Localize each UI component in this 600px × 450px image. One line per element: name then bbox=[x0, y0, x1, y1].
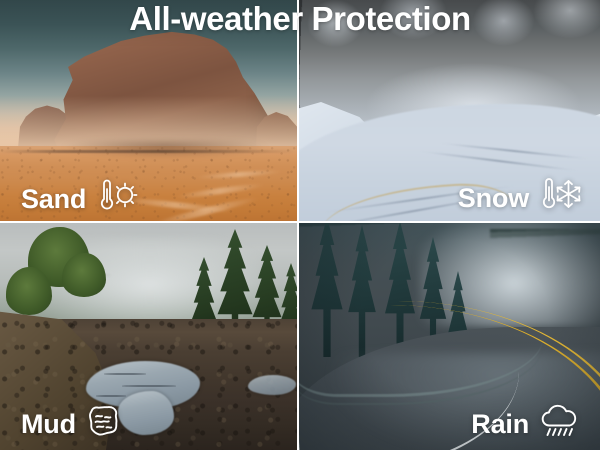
label-mud-text: Mud bbox=[21, 410, 76, 438]
mud-leafy-tree bbox=[6, 267, 52, 315]
quadrant-grid bbox=[0, 0, 600, 450]
label-snow: Snow bbox=[458, 176, 582, 219]
label-rain-text: Rain bbox=[471, 410, 529, 438]
weather-collage: All-weather Protection Sand Snow bbox=[0, 0, 600, 450]
page-title: All-weather Protection bbox=[0, 2, 600, 36]
mud-splash-icon bbox=[85, 404, 123, 443]
label-sand: Sand bbox=[21, 178, 139, 219]
sand-mesa-shadow bbox=[60, 140, 270, 158]
label-mud: Mud bbox=[21, 404, 123, 443]
mud-puddle-ripple bbox=[104, 373, 146, 375]
rain-cloud-icon bbox=[538, 404, 582, 443]
mud-puddle-ripple bbox=[96, 395, 126, 397]
label-rain: Rain bbox=[471, 404, 582, 443]
label-sand-text: Sand bbox=[21, 185, 86, 213]
mud-puddle-ripple bbox=[122, 385, 176, 387]
mud-puddle bbox=[248, 375, 296, 395]
thermometer-sun-icon bbox=[95, 178, 139, 219]
sand-horizon bbox=[0, 150, 297, 153]
mud-puddle bbox=[118, 391, 174, 435]
mud-leafy-tree bbox=[62, 253, 106, 297]
thermometer-snowflake-icon bbox=[538, 176, 582, 219]
label-snow-text: Snow bbox=[458, 184, 529, 212]
